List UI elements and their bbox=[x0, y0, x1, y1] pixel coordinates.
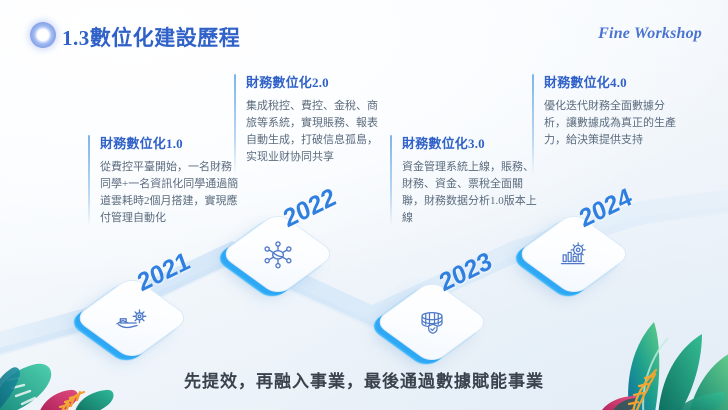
milestone-card-2021: 財務數位化1.0 從費控平臺開始，一名財務同學+一名資訊化同學通過簡道雲耗時2個… bbox=[88, 133, 240, 227]
slide-header: 1.3數位化建設歷程 Fine Workshop bbox=[0, 0, 728, 62]
tile-surface bbox=[373, 279, 491, 365]
card-body: 優化迭代財務全面數據分析，讓數據成為真正的生產力，給決策提供支持 bbox=[532, 91, 684, 149]
card-stem bbox=[390, 135, 392, 227]
tropical-leaves-icon bbox=[576, 308, 728, 410]
page-title: 1.3數位化建設歷程 bbox=[62, 22, 240, 52]
card-stem bbox=[234, 74, 236, 176]
card-stem bbox=[532, 74, 534, 176]
card-body: 從費控平臺開始，一名財務同學+一名資訊化同學通過簡道雲耗時2個月搭建，實現應付管… bbox=[88, 152, 240, 227]
card-body: 資金管理系統上線，賬務、財務、資金、票稅全面關聯，財務数据分析1.0版本上線 bbox=[390, 152, 542, 227]
card-title: 財務數位化1.0 bbox=[88, 133, 240, 152]
card-title: 財務數位化4.0 bbox=[532, 72, 684, 91]
milestone-card-2024: 財務數位化4.0 優化迭代財務全面數據分析，讓數據成為真正的生產力，給決策提供支… bbox=[532, 72, 684, 149]
card-body: 集成稅控、費控、金稅、商旅等系統，實現賬務、報表自動生成，打破信息孤島，实现业财… bbox=[234, 91, 386, 166]
card-stem bbox=[88, 135, 90, 227]
brand-label: Fine Workshop bbox=[598, 25, 702, 43]
circle-glow-icon bbox=[30, 22, 56, 48]
milestone-card-2022: 財務數位化2.0 集成稅控、費控、金稅、商旅等系統，實現賬務、報表自動生成，打破… bbox=[234, 72, 386, 166]
card-title: 財務數位化3.0 bbox=[390, 133, 542, 152]
slide-canvas: 1.3數位化建設歷程 Fine Workshop bbox=[0, 0, 728, 410]
tropical-leaves-icon bbox=[0, 326, 138, 410]
milestone-card-2023: 財務數位化3.0 資金管理系統上線，賬務、財務、資金、票稅全面關聯，財務数据分析… bbox=[390, 133, 542, 227]
card-title: 財務數位化2.0 bbox=[234, 72, 386, 91]
